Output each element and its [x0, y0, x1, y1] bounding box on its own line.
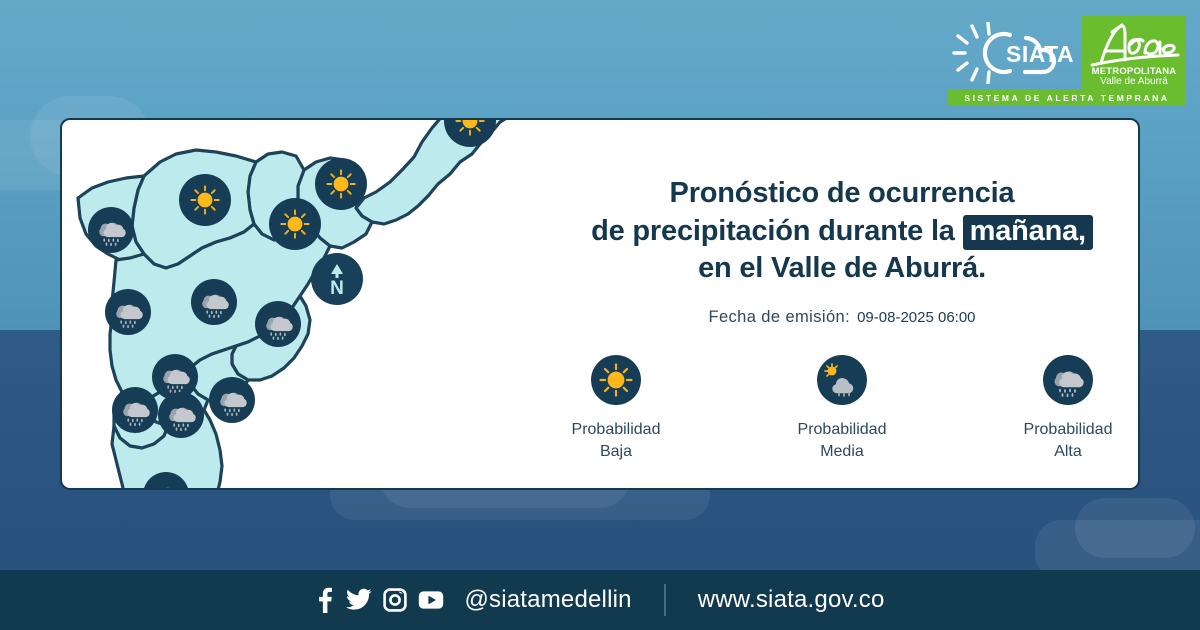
map-marker-cloud-rain [209, 377, 255, 423]
social-handle[interactable]: @siatamedellin [464, 586, 631, 614]
legend-label-media: Probabilidad Media [798, 419, 887, 462]
north-arrow-icon: N [322, 261, 352, 297]
headline-line-3: en el Valle de Aburrá. [542, 250, 1140, 288]
map-marker-cloud-rain [191, 279, 237, 325]
sun-cloud-rain-icon [817, 355, 867, 405]
legend-label-alta: Probabilidad Alta [1024, 419, 1113, 462]
map-marker-cloud-rain [88, 207, 134, 253]
siata-logo: SIATA [948, 22, 1080, 84]
legend-item-baja: Probabilidad Baja [556, 355, 676, 462]
amva-logo: METROPOLITANA Valle de Aburrá [1082, 16, 1186, 96]
map-marker-sun [269, 198, 321, 250]
instagram-icon[interactable] [383, 588, 407, 612]
map-marker-cloud-rain [158, 392, 204, 438]
probability-legend: Probabilidad Baja [542, 355, 1140, 462]
headline-line-2-text: de precipitación durante la [591, 215, 955, 247]
footer-divider [664, 584, 666, 616]
sun-icon [591, 355, 641, 405]
twitter-icon[interactable] [346, 588, 372, 612]
map-marker-cloud-rain [255, 301, 301, 347]
emission-value: 09-08-2025 06:00 [857, 309, 975, 326]
emission-label: Fecha de emisión: [708, 308, 850, 327]
amva-wordmark-icon [1082, 20, 1186, 68]
footer-bar: @siatamedellin www.siata.gov.co [0, 570, 1200, 630]
legend-item-media: Probabilidad Media [782, 355, 902, 462]
legend-title-baja: Probabilidad [572, 419, 661, 441]
map-marker-sun [179, 174, 231, 226]
legend-level-alta: Alta [1024, 441, 1113, 463]
youtube-icon[interactable] [418, 590, 444, 610]
siata-logo-icon: SIATA [948, 22, 1080, 84]
north-compass-badge: N [311, 253, 363, 305]
map-marker-cloud-rain [112, 387, 158, 433]
north-label: N [330, 278, 344, 297]
legend-label-baja: Probabilidad Baja [572, 419, 661, 462]
headline-line-1: Pronóstico de ocurrencia [542, 175, 1140, 213]
valle-de-aburra-map: N [60, 118, 524, 490]
amva-line2: Valle de Aburrá [1082, 77, 1186, 88]
header-logos: SIATA [940, 0, 1200, 118]
facebook-icon[interactable] [315, 587, 335, 613]
amva-line1: METROPOLITANA [1082, 67, 1186, 77]
poster-canvas: SIATA [0, 0, 1200, 630]
content-card: N [60, 118, 1140, 490]
siata-wordmark: SIATA [1006, 41, 1074, 67]
website-url[interactable]: www.siata.gov.co [698, 586, 885, 614]
headline-line-2: de precipitación durante la mañana, [542, 213, 1140, 251]
emission-date: Fecha de emisión: 09-08-2025 06:00 [542, 308, 1140, 327]
map-marker-sun [315, 158, 367, 210]
map-marker-cloud-rain [105, 289, 151, 335]
legend-title-media: Probabilidad [798, 419, 887, 441]
legend-level-media: Media [798, 441, 887, 463]
social-icons [315, 587, 444, 613]
legend-level-baja: Baja [572, 441, 661, 463]
cloud-rain-icon [1043, 355, 1093, 405]
headline-highlight: mañana, [963, 215, 1093, 250]
amva-subtitle: METROPOLITANA Valle de Aburrá [1082, 67, 1186, 87]
page-title: Pronóstico de ocurrencia de precipitació… [542, 120, 1140, 288]
forecast-panel: Pronóstico de ocurrencia de precipitació… [542, 120, 1140, 488]
legend-item-alta: Probabilidad Alta [1008, 355, 1128, 462]
legend-title-alta: Probabilidad [1024, 419, 1113, 441]
siata-tagline: SISTEMA DE ALERTA TEMPRANA [948, 90, 1186, 106]
